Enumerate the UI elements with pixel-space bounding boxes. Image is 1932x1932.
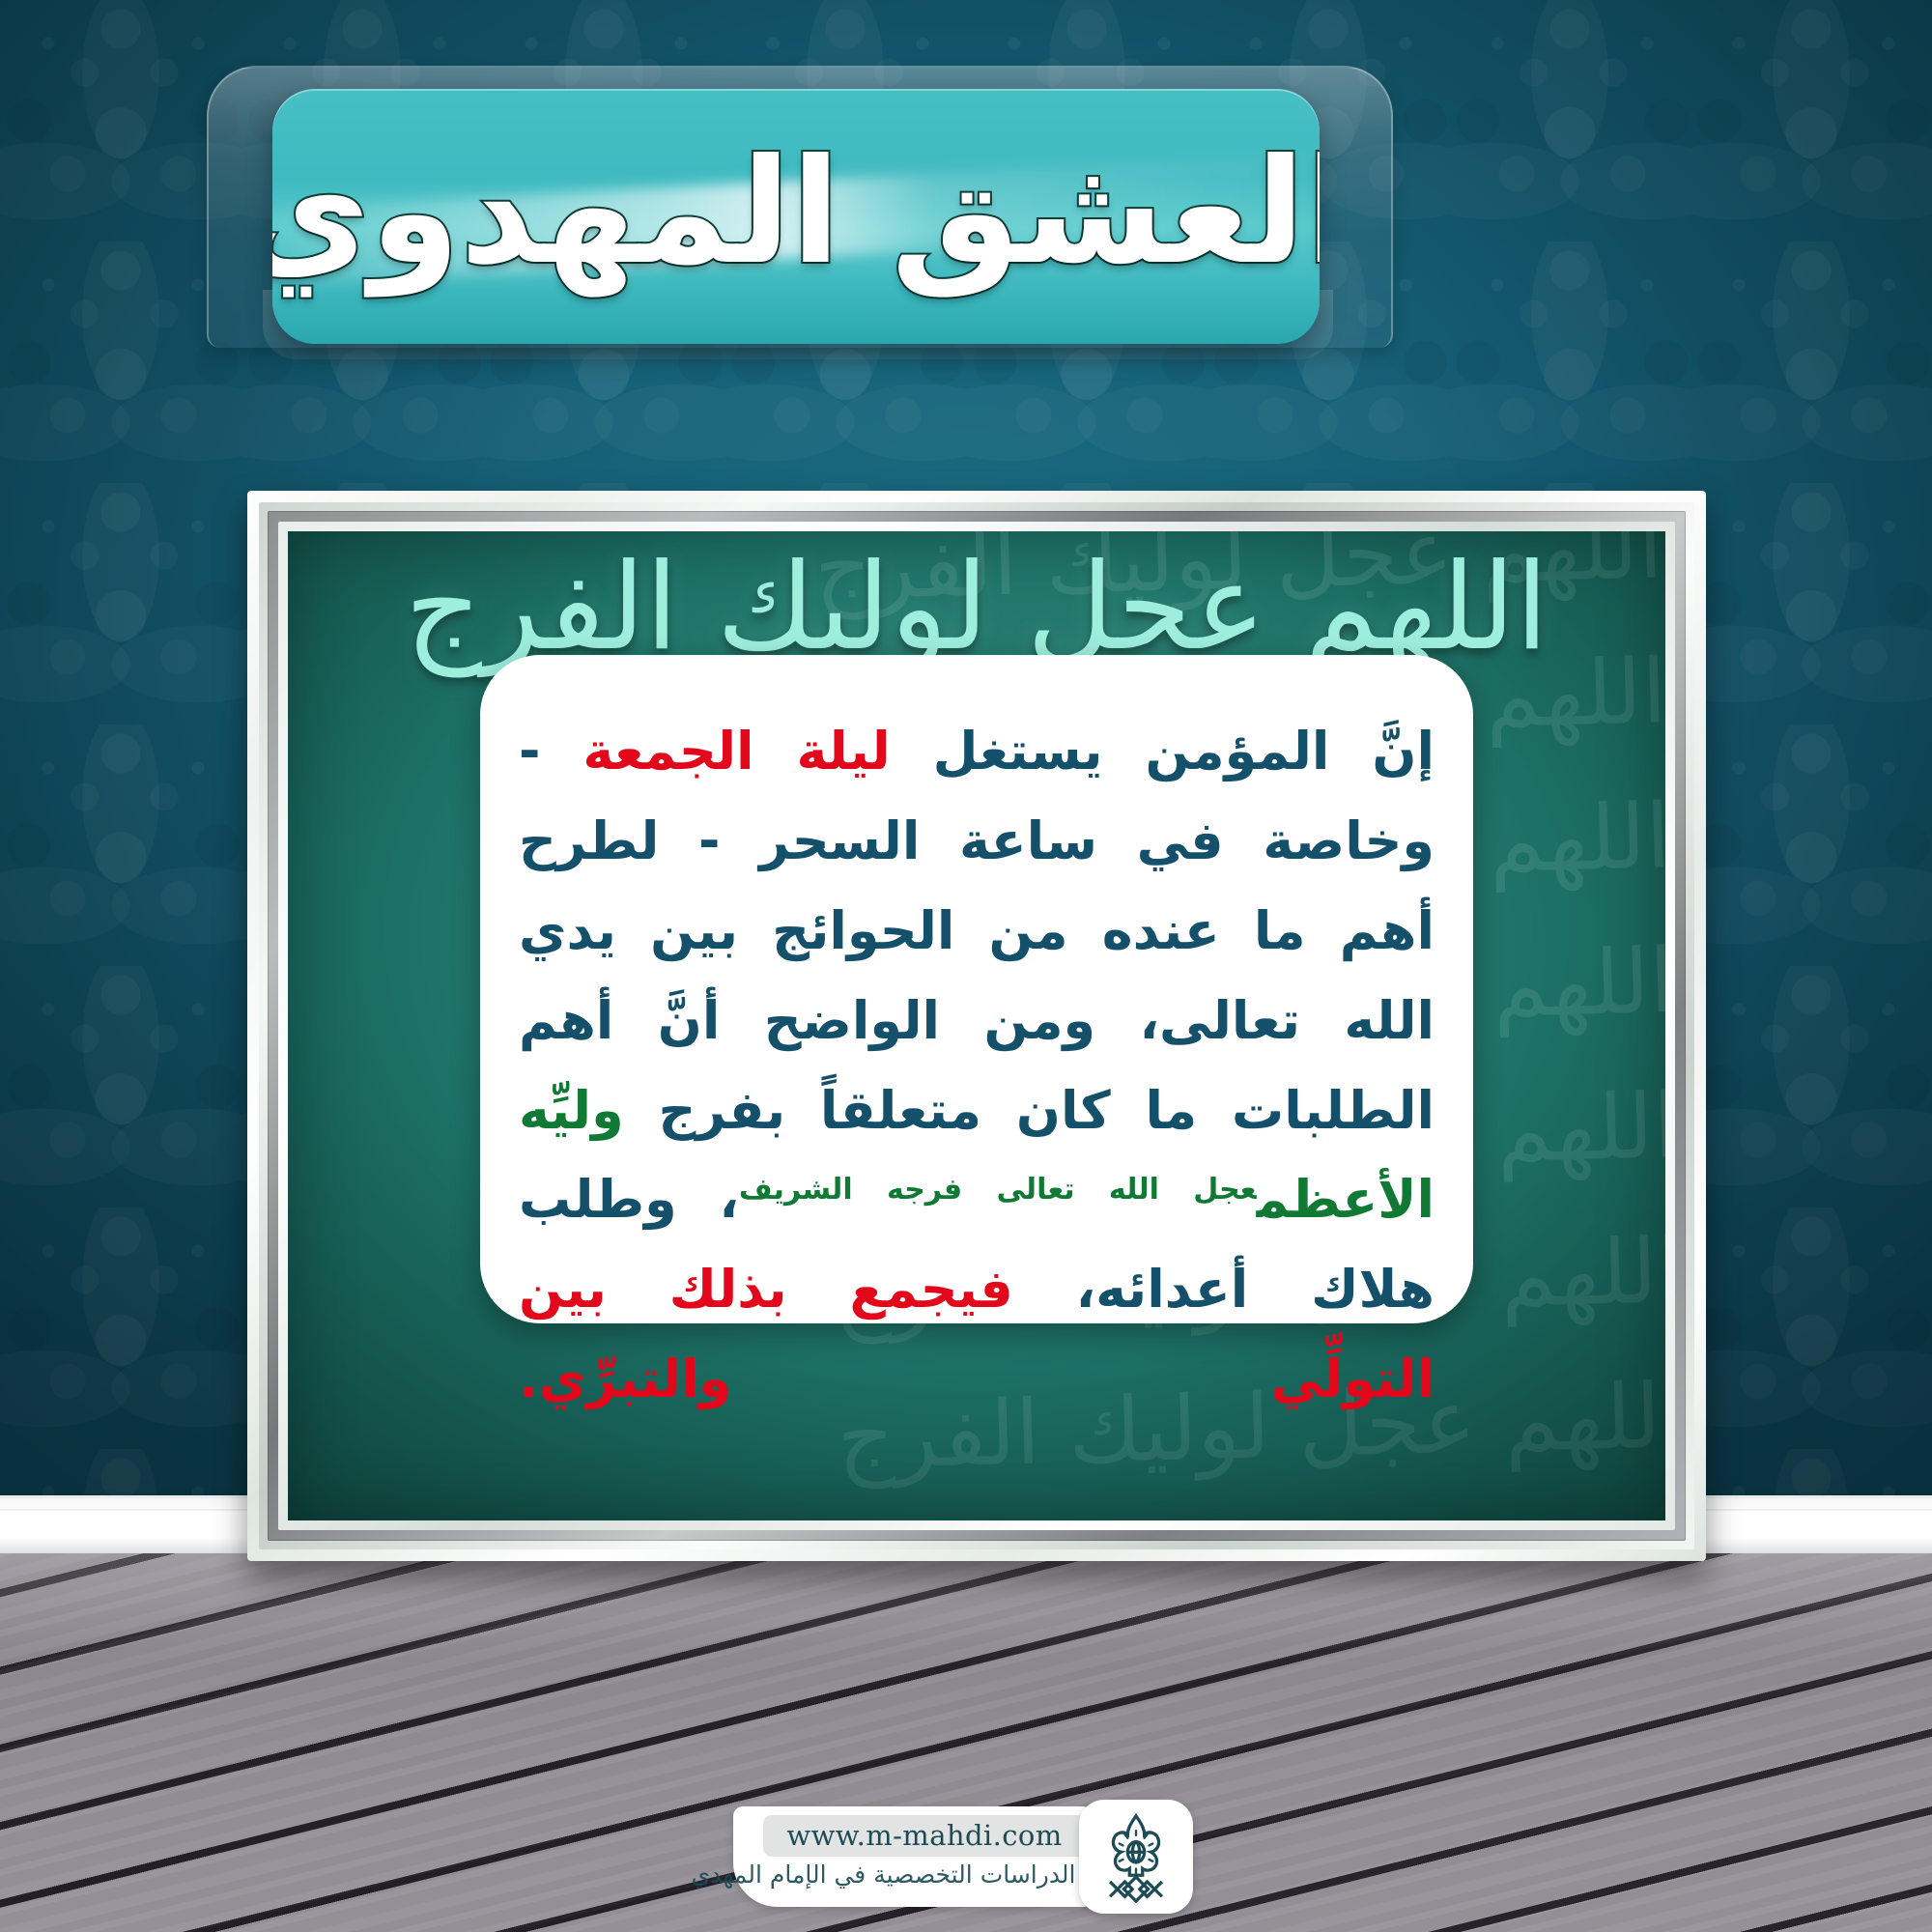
honorific-symbol: عجل الله تعالى فرجه الشريف — [739, 1173, 1257, 1207]
quote-card: إنَّ المؤمن يستغل ليلة الجمعة - وخاصة في… — [480, 655, 1473, 1323]
poster-scene: العشق المهدوي اللهم عجل لوليك الفرج الله… — [0, 0, 1932, 1932]
center-name: مركز الدراسات التخصصية في الإمام المهدي — [692, 1861, 1135, 1889]
frame-layer-middle: اللهم عجل لوليك الفرج اللهم عجل لوليك ال… — [268, 511, 1686, 1541]
page-title: العشق المهدوي — [272, 89, 1320, 344]
frame-layer-outer: اللهم عجل لوليك الفرج اللهم عجل لوليك ال… — [259, 502, 1694, 1549]
logo-text-panel: www.m-mahdi.com مركز الدراسات التخصصية ف… — [733, 1806, 1093, 1907]
quote-segment-red: ليلة الجمعة — [582, 721, 890, 781]
website-url[interactable]: www.m-mahdi.com — [763, 1815, 1085, 1857]
footer-branding: www.m-mahdi.com مركز الدراسات التخصصية ف… — [739, 1799, 1193, 1915]
picture-frame: اللهم عجل لوليك الفرج اللهم عجل لوليك ال… — [247, 491, 1706, 1561]
frame-layer-inner: اللهم عجل لوليك الفرج اللهم عجل لوليك ال… — [278, 522, 1675, 1530]
quote-text: إنَّ المؤمن يستغل ليلة الجمعة - وخاصة في… — [519, 707, 1435, 1425]
green-board: اللهم عجل لوليك الفرج اللهم عجل لوليك ال… — [288, 531, 1665, 1520]
board-calligraphy-tile: اللهم عجل لوليك الفرج — [810, 1488, 1665, 1520]
header-banner: العشق المهدوي — [272, 89, 1320, 344]
mahdi-center-logo-icon — [1090, 1810, 1182, 1903]
quote-segment-navy: - وخاصة في ساعة السحر - لطرح أهم ما عنده… — [519, 721, 1435, 1141]
logo-badge — [1079, 1800, 1193, 1914]
quote-segment-navy: إنَّ المؤمن يستغل — [891, 721, 1435, 781]
